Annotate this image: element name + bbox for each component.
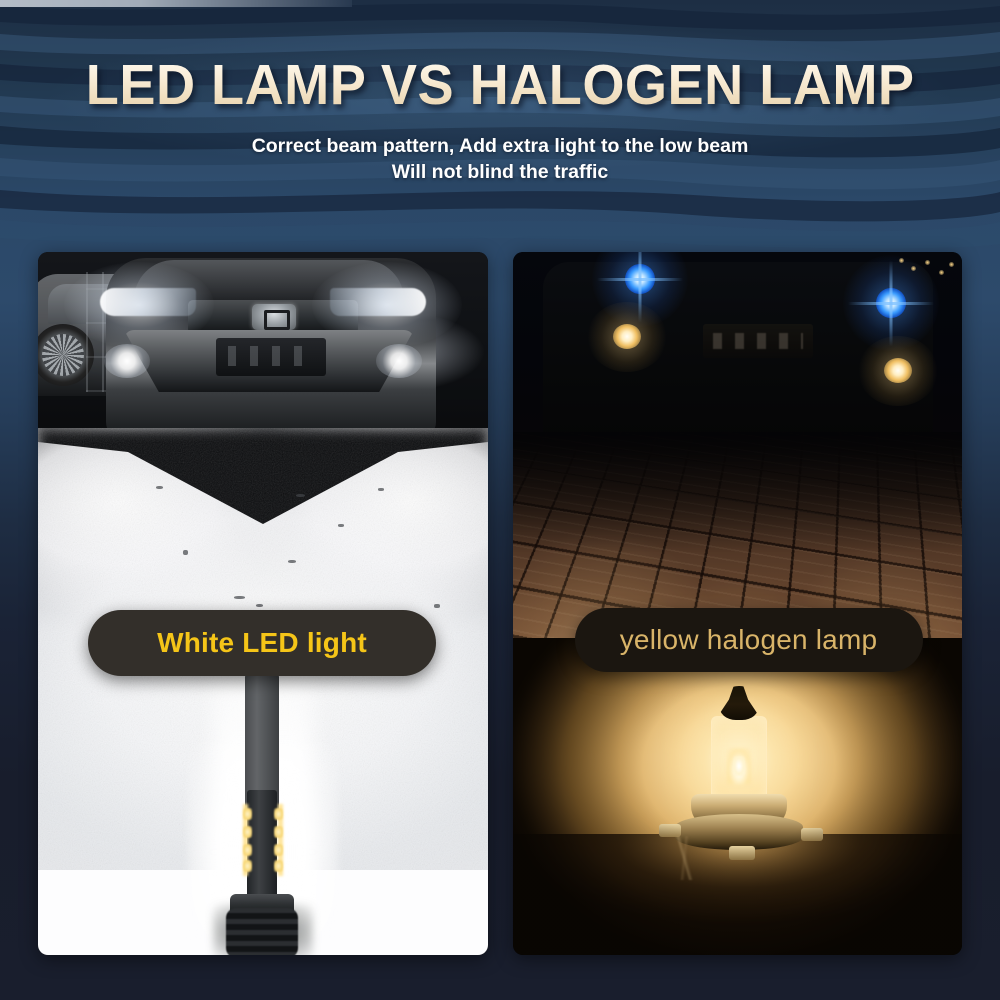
fog-lamp-right (376, 344, 422, 378)
led-bulb-photo (38, 652, 488, 955)
page-title: LED LAMP VS HALOGEN LAMP (86, 57, 915, 114)
shadow-under-car (513, 432, 963, 552)
subtitle-line-1: Correct beam pattern, Add extra light to… (252, 135, 749, 157)
halogen-vignette (513, 638, 963, 955)
led-bulb-base (226, 908, 298, 955)
led-headlight-right (330, 288, 426, 316)
halogen-label-pill[interactable]: yellow halogen lamp (575, 608, 923, 672)
subtitle-line-2: Will not blind the traffic (252, 160, 749, 186)
amber-fog-lamp-left (613, 324, 641, 349)
license-plate-dark (703, 324, 813, 358)
led-scene: White LED light (38, 252, 488, 955)
poster-canvas: LED LAMP VS HALOGEN LAMP Correct beam pa… (0, 0, 1000, 1000)
led-headlight-left (100, 288, 196, 316)
led-panel[interactable]: White LED light (38, 252, 488, 955)
halogen-label-text: yellow halogen lamp (620, 624, 878, 656)
halogen-panel[interactable]: yellow halogen lamp (513, 252, 963, 955)
led-label-text: White LED light (157, 627, 367, 659)
halogen-bulb-photo (513, 638, 963, 955)
honda-badge-icon (252, 304, 296, 330)
led-label-pill[interactable]: White LED light (88, 610, 436, 676)
distant-street-lights (895, 256, 959, 292)
subtitle: Correct beam pattern, Add extra light to… (252, 134, 749, 186)
halogen-car-photo (513, 252, 963, 448)
comparison-panels: White LED light (38, 252, 962, 955)
blue-lamp-right (876, 288, 906, 318)
blue-lamp-left (625, 264, 655, 294)
led-car-photo (38, 252, 488, 440)
fog-lamp-left (104, 344, 150, 378)
halogen-scene: yellow halogen lamp (513, 252, 963, 955)
poster-header: LED LAMP VS HALOGEN LAMP Correct beam pa… (0, 0, 1000, 232)
license-plate (216, 338, 326, 376)
amber-fog-lamp-right (884, 358, 912, 383)
led-chip-dots (241, 802, 285, 878)
